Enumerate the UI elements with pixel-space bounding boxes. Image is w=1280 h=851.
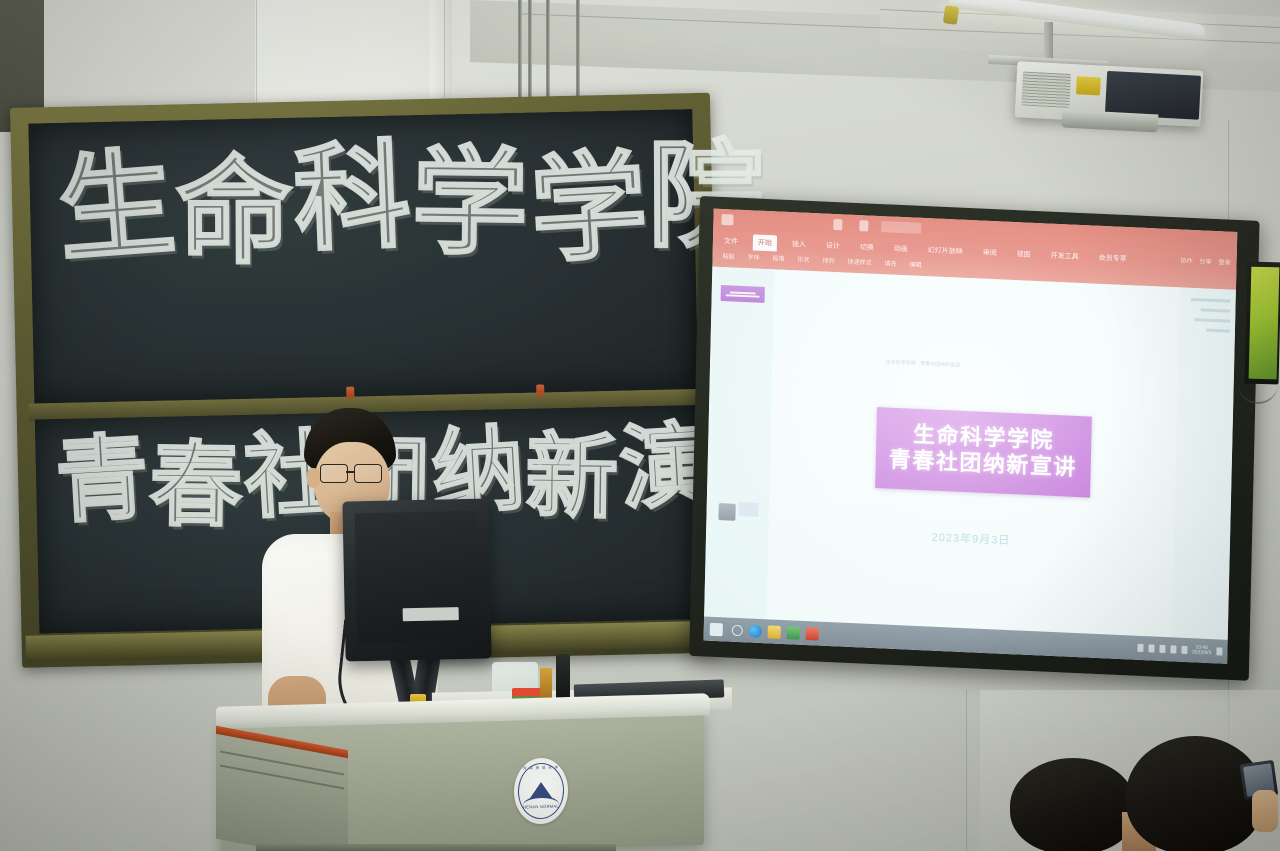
glasses-lens-left xyxy=(320,464,348,483)
tab-home[interactable]: 开始 xyxy=(753,234,777,251)
thumbnail-graphic xyxy=(738,502,758,517)
clock-date: 2023/9/3 xyxy=(1192,650,1212,656)
cmd-quickstyle[interactable]: 快速样式 xyxy=(847,257,871,267)
slide-thumbnail-panel[interactable] xyxy=(704,267,775,620)
chalk-char: 生 xyxy=(54,145,180,269)
right-task-pane[interactable] xyxy=(1172,287,1236,639)
cmd-font[interactable]: 字体 xyxy=(747,252,759,262)
audience-head-1 xyxy=(1010,758,1136,851)
presenter-monitor xyxy=(342,498,491,661)
system-tray[interactable]: 10:46 2023/9/3 xyxy=(1137,642,1223,657)
chalk-char: 命 xyxy=(176,155,295,272)
projector-vent xyxy=(1021,71,1071,107)
cmd-fill[interactable]: 填充 xyxy=(884,258,896,268)
tab-transition[interactable]: 切换 xyxy=(855,239,879,256)
collab-button[interactable]: 协作 xyxy=(1180,255,1192,265)
slide-date: 2023年9月3日 xyxy=(768,521,1174,555)
chalk-char: 新 xyxy=(525,431,620,524)
lectern: 河 南 师 范 大 学 HENAN NORMAL xyxy=(216,700,710,851)
edge-icon[interactable] xyxy=(749,624,762,638)
wps-writer-icon[interactable] xyxy=(787,626,800,640)
slide-canvas[interactable]: 生命科学学院 · 青春社团纳新宣讲 生命科学学院 青春社团纳新宣讲 2023年9… xyxy=(766,269,1180,637)
tray-ime-icon[interactable] xyxy=(1181,646,1187,654)
taskbar-clock[interactable]: 10:46 2023/9/3 xyxy=(1192,645,1212,657)
tray-volume-icon[interactable] xyxy=(1170,645,1176,653)
tab-view[interactable]: 视图 xyxy=(1012,246,1036,263)
redo-icon[interactable] xyxy=(859,220,868,231)
chalk-char: 学 xyxy=(528,148,652,271)
action-center-icon[interactable] xyxy=(1216,647,1222,655)
signin-button[interactable]: 登录 xyxy=(1218,257,1230,267)
search-icon[interactable] xyxy=(732,624,743,635)
monitor-back-panel xyxy=(355,511,480,644)
chalk-char: 学 xyxy=(411,145,531,263)
document-title xyxy=(881,221,921,234)
presenter-ear xyxy=(307,468,320,488)
slide-thumbnail-1[interactable] xyxy=(721,285,765,303)
tray-chevron-icon[interactable] xyxy=(1137,644,1143,652)
glasses-lens-right xyxy=(354,464,382,483)
thumbnail-photo xyxy=(718,503,735,521)
save-icon[interactable] xyxy=(721,214,733,226)
wall-seam-bottom-right xyxy=(966,690,967,851)
monitor-label-sticker xyxy=(403,607,459,621)
tube-light-cap xyxy=(943,5,959,25)
chalk-char: 科 xyxy=(292,138,414,259)
cmd-paragraph[interactable]: 段落 xyxy=(772,253,784,263)
pane-row xyxy=(1206,329,1230,333)
tab-developer[interactable]: 开发工具 xyxy=(1046,247,1084,265)
emblem-bottom-text: HENAN NORMAL xyxy=(514,803,568,809)
audience-hand xyxy=(1252,790,1278,832)
tab-animation[interactable]: 动画 xyxy=(889,240,913,257)
thumbnail-title-box xyxy=(721,285,765,303)
classroom-scene: 生 命 科 学 学 院 青 春 社 团 纳 新 演 讲 xyxy=(0,0,1280,851)
presenter-glasses xyxy=(320,464,386,482)
tray-network-icon[interactable] xyxy=(1159,645,1165,653)
emblem-top-text: 河 南 师 范 大 学 xyxy=(514,764,568,770)
tab-file[interactable]: 文件 xyxy=(719,233,743,250)
projector-sticker xyxy=(1076,76,1101,95)
slide-thumbnail-2[interactable] xyxy=(718,499,758,523)
cmd-shape[interactable]: 形状 xyxy=(797,254,809,264)
undo-icon[interactable] xyxy=(833,219,842,230)
secondary-display xyxy=(1245,262,1280,385)
lectern-base xyxy=(256,844,616,851)
blackboard-headline-top: 生 命 科 学 学 院 xyxy=(57,130,767,261)
start-button[interactable] xyxy=(710,622,723,636)
tab-design[interactable]: 设计 xyxy=(821,237,845,254)
tab-slideshow[interactable]: 幻灯片放映 xyxy=(923,242,968,260)
tab-review[interactable]: 审阅 xyxy=(978,244,1002,261)
chalk-char: 青 xyxy=(54,431,153,528)
cmd-arrange[interactable]: 排列 xyxy=(822,256,834,266)
tray-onedrive-icon[interactable] xyxy=(1148,644,1154,652)
slide-title-box[interactable]: 生命科学学院 青春社团纳新宣讲 xyxy=(875,407,1092,497)
thumbnail-text-line xyxy=(726,294,760,298)
pane-row xyxy=(1200,308,1230,312)
pane-row xyxy=(1194,318,1230,323)
glasses-bridge xyxy=(346,471,354,473)
cmd-paste[interactable]: 粘贴 xyxy=(722,251,734,261)
ribbon-right-actions[interactable]: 协作 分享 登录 xyxy=(1180,255,1230,266)
cmd-edit[interactable]: 编辑 xyxy=(909,259,921,269)
board-magnet-2 xyxy=(536,384,544,396)
board-magnet-1 xyxy=(346,387,354,399)
chalk-char: 春 xyxy=(149,439,244,532)
secondary-display-panel xyxy=(1249,267,1280,380)
file-explorer-icon[interactable] xyxy=(768,625,781,639)
tab-insert[interactable]: 插入 xyxy=(787,236,811,253)
share-button[interactable]: 分享 xyxy=(1199,256,1211,266)
projected-desktop[interactable]: 文件 开始 插入 设计 切换 动画 幻灯片放映 审阅 视图 开发工具 会员专享 … xyxy=(704,209,1238,664)
pane-row xyxy=(1191,298,1231,303)
wps-presentation-icon[interactable] xyxy=(806,627,819,641)
tab-member[interactable]: 会员专享 xyxy=(1093,250,1131,268)
slide-watermark: 生命科学学院 · 青春社团纳新宣讲 xyxy=(886,358,961,368)
projection-screen: 文件 开始 插入 设计 切换 动画 幻灯片放映 审阅 视图 开发工具 会员专享 … xyxy=(689,196,1259,681)
